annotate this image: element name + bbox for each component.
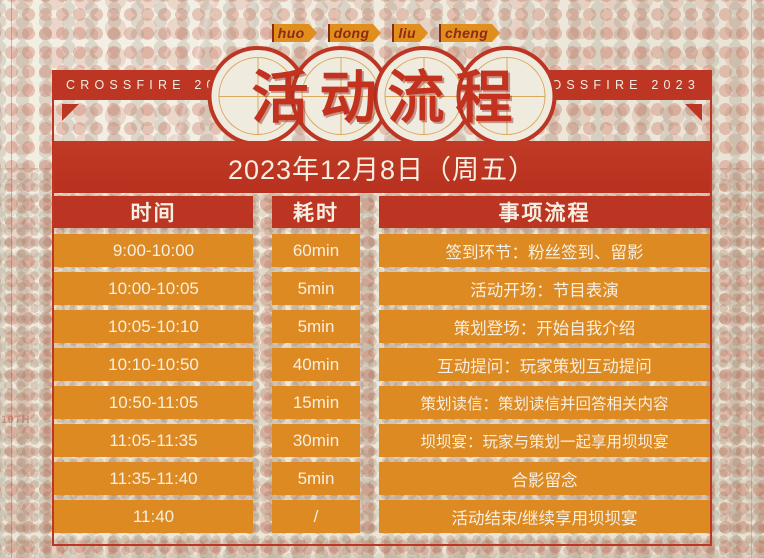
cell-process: 签到环节：粉丝签到、留影 (379, 234, 710, 267)
cell-duration: 30min (272, 424, 360, 457)
date-bar: 2023年12月8日（周五） (54, 141, 710, 193)
cell-process: 坝坝宴：玩家与策划一起享用坝坝宴 (379, 424, 710, 457)
pinyin-tag-2: dong (328, 24, 374, 42)
pinyin-tag-1: huo (272, 24, 309, 42)
cell-duration: 15min (272, 386, 360, 419)
cell-time: 11:40 (54, 500, 253, 533)
table-row: 10:00-10:055min活动开场：节目表演 (54, 272, 710, 305)
title-circle-emblems (208, 46, 557, 146)
watermark-text: 10TH (1, 414, 30, 426)
table-row: 10:10-10:5040min互动提问：玩家策划互动提问 (54, 348, 710, 381)
cell-time: 10:00-10:05 (54, 272, 253, 305)
title-circle-4 (457, 46, 557, 146)
table-row: 10:05-10:105min策划登场：开始自我介绍 (54, 310, 710, 343)
schedule-table: 时间 耗时 事项流程 9:00-10:0060min签到环节：粉丝签到、留影10… (54, 196, 710, 538)
cell-duration: 5min (272, 462, 360, 495)
table-header-row: 时间 耗时 事项流程 (54, 196, 710, 228)
table-row: 11:05-11:3530min坝坝宴：玩家与策划一起享用坝坝宴 (54, 424, 710, 457)
cell-process: 活动结束/继续享用坝坝宴 (379, 500, 710, 533)
cell-time: 10:10-10:50 (54, 348, 253, 381)
pinyin-tag-3: liu (392, 24, 420, 42)
cell-process: 互动提问：玩家策划互动提问 (379, 348, 710, 381)
column-header-process: 事项流程 (379, 196, 710, 228)
pinyin-row: huo dong liu cheng (0, 22, 764, 44)
table-row: 9:00-10:0060min签到环节：粉丝签到、留影 (54, 234, 710, 267)
cell-process: 策划登场：开始自我介绍 (379, 310, 710, 343)
cell-duration: / (272, 500, 360, 533)
table-row: 11:35-11:405min合影留念 (54, 462, 710, 495)
cell-process: 活动开场：节目表演 (379, 272, 710, 305)
pinyin-tag-4: cheng (439, 24, 492, 42)
cell-time: 10:50-11:05 (54, 386, 253, 419)
table-body: 9:00-10:0060min签到环节：粉丝签到、留影10:00-10:055m… (54, 234, 710, 533)
title-block: huo dong liu cheng 活 动 流 程 (0, 10, 764, 132)
cell-time: 11:05-11:35 (54, 424, 253, 457)
table-row: 11:40/活动结束/继续享用坝坝宴 (54, 500, 710, 533)
column-header-time: 时间 (54, 196, 253, 228)
cell-time: 9:00-10:00 (54, 234, 253, 267)
cell-process: 合影留念 (379, 462, 710, 495)
table-row: 10:50-11:0515min策划读信：策划读信并回答相关内容 (54, 386, 710, 419)
cell-duration: 5min (272, 310, 360, 343)
cell-duration: 5min (272, 272, 360, 305)
cell-time: 10:05-10:10 (54, 310, 253, 343)
cell-duration: 40min (272, 348, 360, 381)
cell-time: 11:35-11:40 (54, 462, 253, 495)
column-header-duration: 耗时 (272, 196, 360, 228)
cell-duration: 60min (272, 234, 360, 267)
cell-process: 策划读信：策划读信并回答相关内容 (379, 386, 710, 419)
